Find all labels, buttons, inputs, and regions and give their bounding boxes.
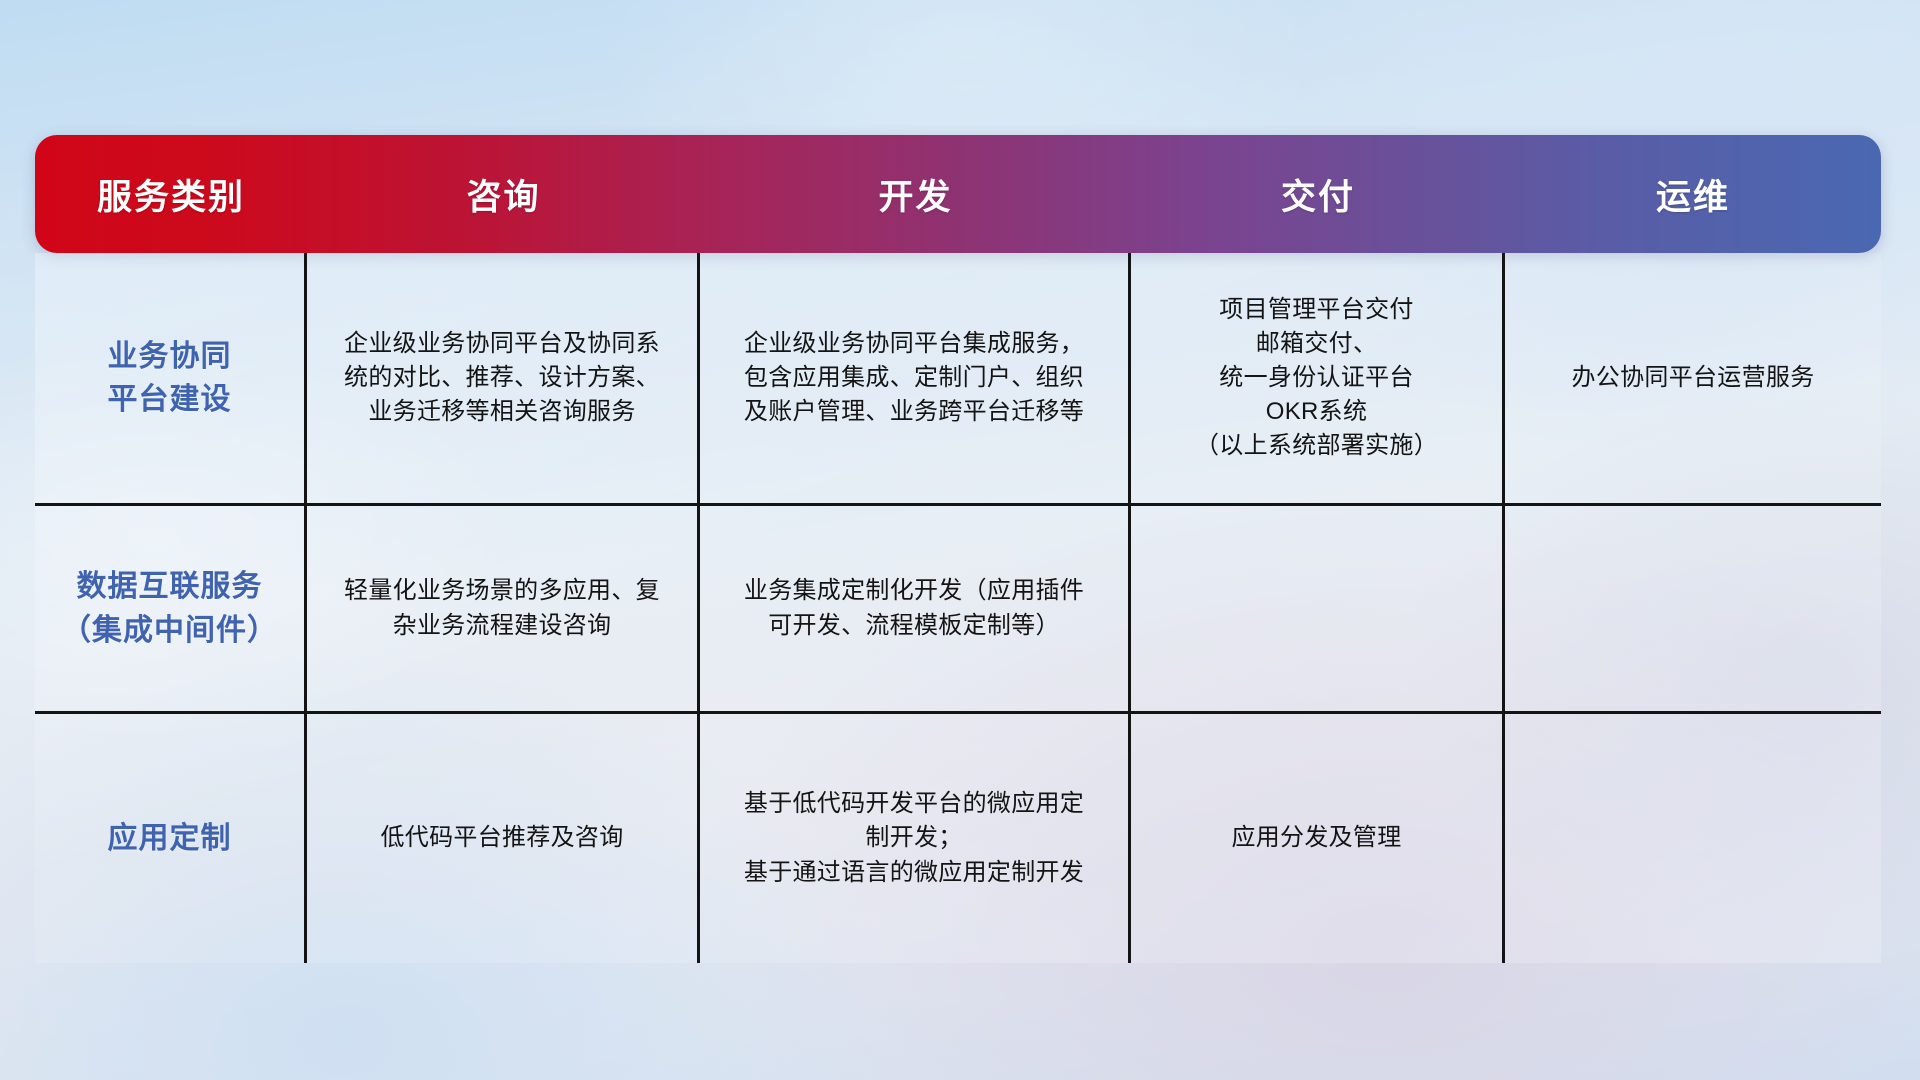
cell-delivery [1131,506,1505,711]
cell-development: 企业级业务协同平台集成服务， 包含应用集成、定制门户、组织 及账户管理、业务跨平… [700,253,1131,503]
column-header-development: 开发 [700,135,1131,253]
table-row: 数据互联服务 （集成中间件） 轻量化业务场景的多应用、复 杂业务流程建设咨询 业… [35,506,1881,714]
cell-development: 基于低代码开发平台的微应用定 制开发； 基于通过语言的微应用定制开发 [700,714,1131,963]
column-header-label: 服务类别 [97,169,245,220]
column-header-service-category: 服务类别 [35,135,307,253]
cell-text: 轻量化业务场景的多应用、复 杂业务流程建设咨询 [344,574,660,642]
cell-text: 业务集成定制化开发（应用插件 可开发、流程模板定制等） [744,574,1084,642]
cell-consulting: 企业级业务协同平台及协同系 统的对比、推荐、设计方案、 业务迁移等相关咨询服务 [307,253,700,503]
column-header-label: 交付 [1281,169,1355,220]
cell-consulting: 轻量化业务场景的多应用、复 杂业务流程建设咨询 [307,506,700,711]
cell-development: 业务集成定制化开发（应用插件 可开发、流程模板定制等） [700,506,1131,711]
table-header-row: 服务类别 咨询 开发 交付 运维 [35,135,1881,253]
cell-text: 低代码平台推荐及咨询 [381,821,624,855]
cell-text: 基于低代码开发平台的微应用定 制开发； 基于通过语言的微应用定制开发 [744,787,1084,889]
cell-consulting: 低代码平台推荐及咨询 [307,714,700,963]
service-matrix-table: 服务类别 咨询 开发 交付 运维 业务协同 平台建设 企业级业务协同平台及协同系… [35,135,1881,963]
cell-text: 企业级业务协同平台及协同系 统的对比、推荐、设计方案、 业务迁移等相关咨询服务 [344,327,660,429]
table-row: 应用定制 低代码平台推荐及咨询 基于低代码开发平台的微应用定 制开发； 基于通过… [35,714,1881,963]
cell-text: 企业级业务协同平台集成服务， 包含应用集成、定制门户、组织 及账户管理、业务跨平… [744,327,1084,429]
row-label: 业务协同 平台建设 [108,335,232,422]
cell-operations: 办公协同平台运营服务 [1505,253,1881,503]
row-label: 数据互联服务 （集成中间件） [61,565,278,652]
cell-delivery: 项目管理平台交付 邮箱交付、 统一身份认证平台 OKR系统 （以上系统部署实施） [1131,253,1505,503]
cell-delivery: 应用分发及管理 [1131,714,1505,963]
cell-operations [1505,714,1881,963]
row-label: 应用定制 [108,817,232,861]
row-label-cell: 数据互联服务 （集成中间件） [35,506,307,711]
table-body: 业务协同 平台建设 企业级业务协同平台及协同系 统的对比、推荐、设计方案、 业务… [35,253,1881,963]
column-header-consulting: 咨询 [307,135,700,253]
column-header-label: 咨询 [466,169,540,220]
column-header-label: 运维 [1656,169,1730,220]
column-header-delivery: 交付 [1131,135,1505,253]
cell-text: 应用分发及管理 [1231,821,1401,855]
cell-text: 办公协同平台运营服务 [1572,361,1815,395]
column-header-operations: 运维 [1505,135,1881,253]
row-label-cell: 业务协同 平台建设 [35,253,307,503]
column-header-label: 开发 [878,169,952,220]
table-row: 业务协同 平台建设 企业级业务协同平台及协同系 统的对比、推荐、设计方案、 业务… [35,253,1881,506]
cell-text: 项目管理平台交付 邮箱交付、 统一身份认证平台 OKR系统 （以上系统部署实施） [1195,293,1438,463]
cell-operations [1505,506,1881,711]
row-label-cell: 应用定制 [35,714,307,963]
